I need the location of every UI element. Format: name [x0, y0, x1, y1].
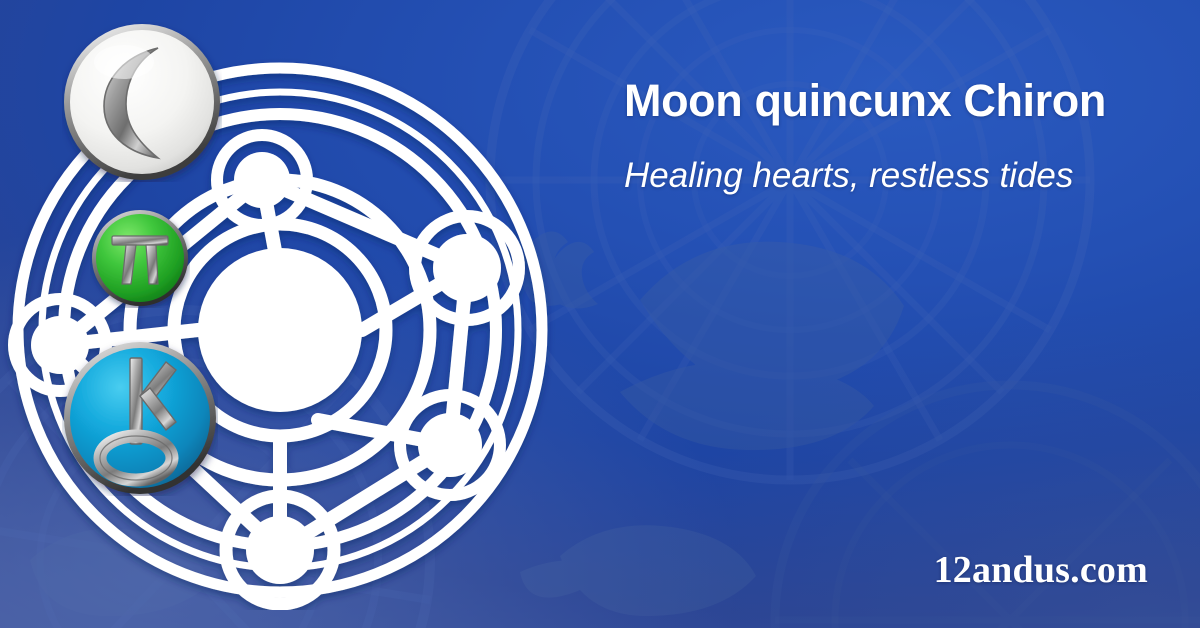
moon-planet-badge: [62, 22, 222, 182]
page-title: Moon quincunx Chiron: [624, 74, 1172, 128]
brand-label: 12andus.com: [934, 548, 1148, 592]
quincunx-aspect-badge: [90, 208, 190, 308]
page-subtitle: Healing hearts, restless tides: [624, 154, 1094, 198]
aspect-banner: Moon quincunx Chiron Healing hearts, res…: [0, 0, 1200, 628]
headline-block: Moon quincunx Chiron Healing hearts, res…: [624, 74, 1172, 198]
chiron-planet-badge: [62, 340, 218, 496]
